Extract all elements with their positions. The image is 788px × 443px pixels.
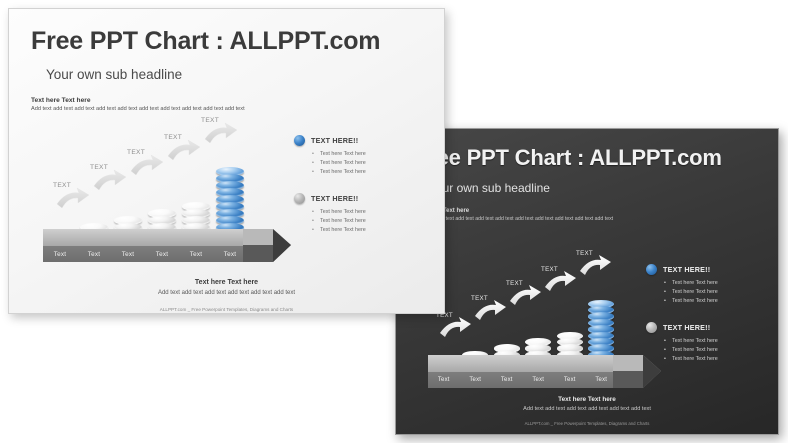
bar-stacks-dark	[428, 240, 617, 372]
baseline-arrow-platform-dark: TextTextTextTextTextText	[416, 355, 661, 395]
legend-header: TEXT HERE!!	[294, 135, 424, 146]
body-paragraph: Add text add text add text add text add …	[31, 106, 245, 112]
legend-group: TEXT HERE!!Text here Text hereText here …	[646, 322, 771, 364]
axis-tick-label: Text	[43, 246, 77, 262]
legend-bullet-list: Text here Text hereText here Text hereTe…	[312, 208, 424, 235]
axis-tick-label: Text	[460, 372, 492, 388]
legend-title: TEXT HERE!!	[663, 265, 710, 274]
legend-bullet-item: Text here Text here	[312, 208, 424, 217]
axis-tick-row-dark: TextTextTextTextTextText	[428, 372, 617, 388]
axis-tick-label: Text	[111, 246, 145, 262]
legend-header: TEXT HERE!!	[646, 322, 771, 333]
footer-paragraph: Add text add text add text add text add …	[9, 290, 444, 296]
footer-heading: Text here Text here	[9, 279, 444, 286]
legend-title: TEXT HERE!!	[663, 323, 710, 332]
legend-bullet-item: Text here Text here	[664, 337, 771, 346]
legend-bullet-item: Text here Text here	[312, 159, 424, 168]
legend-gray-dot-icon	[294, 193, 305, 204]
legend-title: TEXT HERE!!	[311, 136, 358, 145]
legend-bullet-item: Text here Text here	[312, 168, 424, 177]
axis-tick-label: Text	[554, 372, 586, 388]
arrow-head-icon	[243, 223, 291, 268]
axis-tick-label: Text	[213, 246, 247, 262]
axis-tick-label: Text	[428, 372, 460, 388]
legend-dark: TEXT HERE!!Text here Text hereText here …	[646, 264, 771, 380]
axis-tick-label: Text	[77, 246, 111, 262]
legend-bullet-item: Text here Text here	[664, 355, 771, 364]
legend-header: TEXT HERE!!	[294, 193, 424, 204]
coin-stack-chart-light: TEXT TEXT TEXT TEXT TEXT TextTextTextTex…	[31, 114, 291, 269]
legend-bullet-item: Text here Text here	[312, 226, 424, 235]
footer-paragraph-dark: Add text add text add text add text add …	[396, 406, 778, 412]
axis-tick-label: Text	[491, 372, 523, 388]
page-title-dark: Free PPT Chart : ALLPPT.com	[415, 145, 722, 171]
legend-title: TEXT HERE!!	[311, 194, 358, 203]
credit-line-dark: ALLPPT.com _ Free Powerpoint Templates, …	[396, 421, 778, 426]
legend-light: TEXT HERE!!Text here Text hereText here …	[294, 135, 424, 251]
page-title: Free PPT Chart : ALLPPT.com	[31, 27, 380, 56]
legend-blue-dot-icon	[646, 264, 657, 275]
slide-dark[interactable]: Free PPT Chart : ALLPPT.com Your own sub…	[395, 128, 779, 435]
legend-blue-dot-icon	[294, 135, 305, 146]
legend-bullet-list: Text here Text hereText here Text hereTe…	[664, 337, 771, 364]
baseline-arrow-platform: TextTextTextTextTextText	[31, 229, 291, 269]
legend-bullet-item: Text here Text here	[664, 279, 771, 288]
legend-group: TEXT HERE!!Text here Text hereText here …	[294, 193, 424, 235]
page-subtitle: Your own sub headline	[46, 67, 182, 82]
axis-tick-row: TextTextTextTextTextText	[43, 246, 247, 262]
bar-stacks	[43, 114, 247, 246]
legend-bullet-item: Text here Text here	[312, 217, 424, 226]
legend-bullet-item: Text here Text here	[664, 288, 771, 297]
legend-group: TEXT HERE!!Text here Text hereText here …	[294, 135, 424, 177]
coin-stack-chart-dark: TEXT TEXT TEXT TEXT TEXT TextTextTextTex…	[416, 247, 661, 395]
credit-line: ALLPPT.com _ Free Powerpoint Templates, …	[9, 307, 444, 312]
axis-tick-label: Text	[586, 372, 618, 388]
axis-tick-label: Text	[179, 246, 213, 262]
legend-header: TEXT HERE!!	[646, 264, 771, 275]
legend-bullet-item: Text here Text here	[664, 346, 771, 355]
body-heading: Text here Text here	[31, 97, 91, 104]
page-subtitle-dark: Your own sub headline	[429, 181, 550, 195]
legend-bullet-list: Text here Text hereText here Text hereTe…	[312, 150, 424, 177]
legend-group: TEXT HERE!!Text here Text hereText here …	[646, 264, 771, 306]
slide-light[interactable]: Free PPT Chart : ALLPPT.com Your own sub…	[8, 8, 445, 314]
axis-tick-label: Text	[145, 246, 179, 262]
legend-bullet-item: Text here Text here	[664, 297, 771, 306]
axis-tick-label: Text	[523, 372, 555, 388]
legend-bullet-list: Text here Text hereText here Text hereTe…	[664, 279, 771, 306]
legend-bullet-item: Text here Text here	[312, 150, 424, 159]
footer-heading-dark: Text here Text here	[396, 396, 778, 403]
legend-gray-dot-icon	[646, 322, 657, 333]
